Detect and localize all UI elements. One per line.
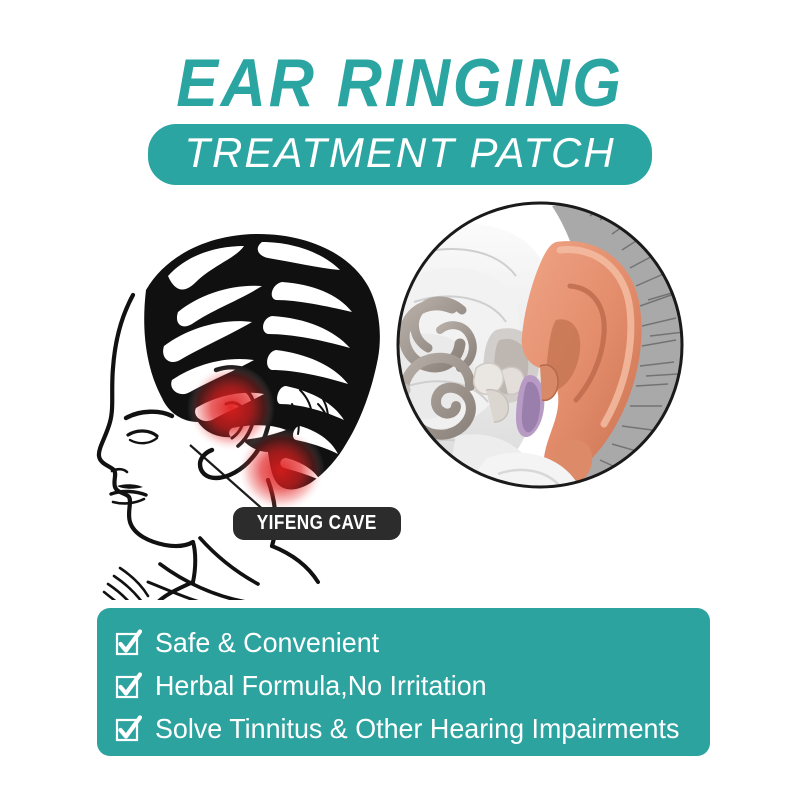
page-subtitle: TREATMENT PATCH (184, 129, 615, 176)
feature-label: Herbal Formula,No Irritation (155, 670, 487, 702)
product-banner: EAR RINGING TREATMENT PATCH (0, 0, 800, 800)
illustration-area: YIFENG CAVE (0, 190, 800, 600)
page-title: EAR RINGING (32, 46, 768, 120)
subtitle-pill-wrap: TREATMENT PATCH (0, 124, 800, 185)
checkbox-checked-icon (115, 715, 142, 742)
feature-label: Safe & Convenient (155, 627, 379, 659)
feature-item-1: Safe & Convenient (115, 622, 710, 663)
acupoint-badge-label: YIFENG CAVE (257, 512, 377, 534)
feature-label: Solve Tinnitus & Other Hearing Impairmen… (155, 713, 679, 745)
acupoint-badge: YIFENG CAVE (233, 507, 401, 540)
checkbox-checked-icon (115, 672, 142, 699)
subtitle-pill: TREATMENT PATCH (148, 124, 651, 185)
ear-anatomy-inset (0, 190, 800, 600)
feature-item-3: Solve Tinnitus & Other Hearing Impairmen… (115, 708, 710, 749)
features-box: Safe & Convenient Herbal Formula,No Irri… (97, 608, 710, 756)
checkbox-checked-icon (115, 629, 142, 656)
feature-item-2: Herbal Formula,No Irritation (115, 665, 710, 706)
header: EAR RINGING TREATMENT PATCH (0, 46, 800, 186)
